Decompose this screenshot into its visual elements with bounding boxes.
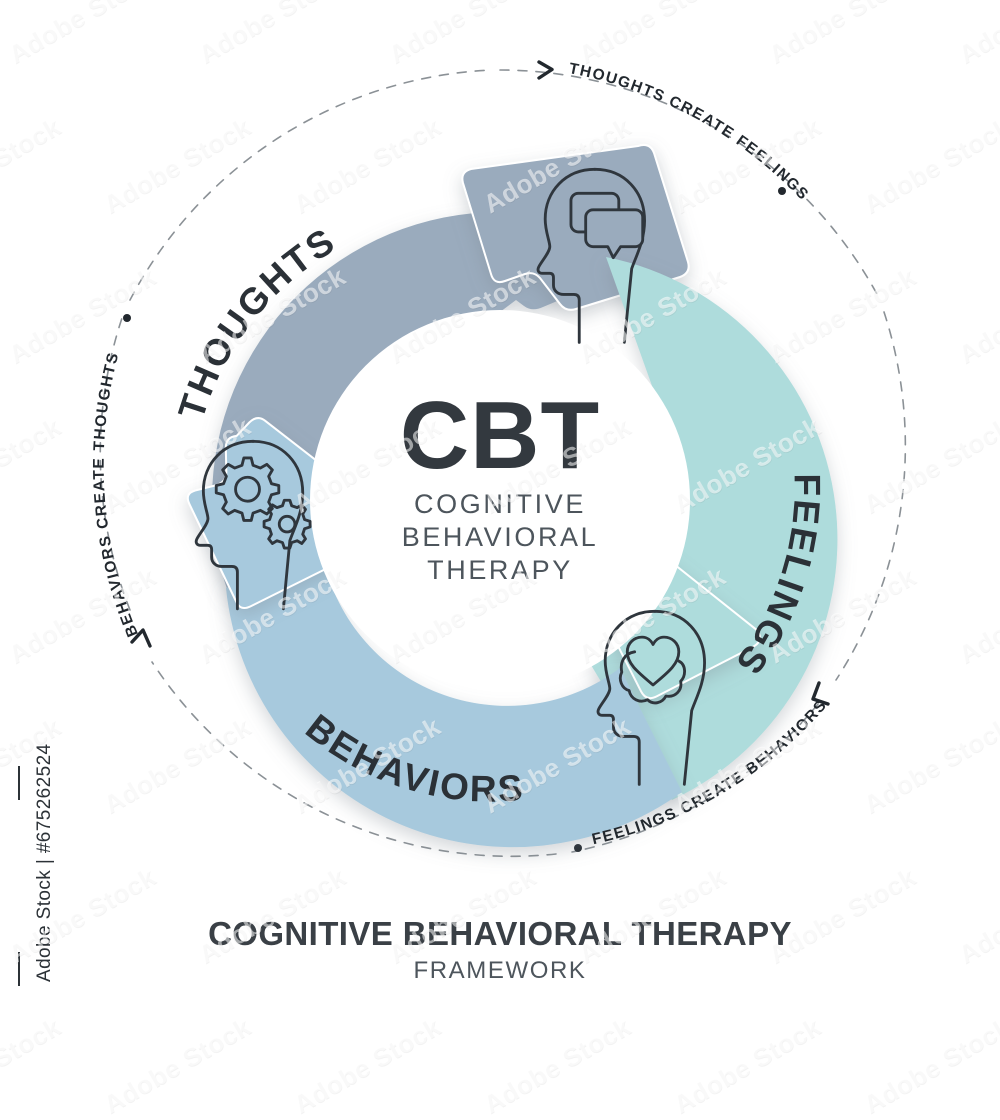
watermark-tick-top: [18, 766, 20, 800]
watermark-tick-bottom: [18, 952, 20, 986]
cbt-acronym: CBT: [400, 382, 600, 489]
watermark-tile: Adobe Stock: [288, 1011, 446, 1120]
dashed-dot-upper-left: [123, 314, 131, 322]
dashed-dot-bottom: [574, 844, 582, 852]
footer-title: COGNITIVE BEHAVIORAL THERAPY: [208, 915, 792, 952]
cbt-subtitle-line-1: COGNITIVE: [414, 489, 586, 519]
dashed-arc-right: [836, 312, 905, 680]
footer-title-block: COGNITIVE BEHAVIORAL THERAPY FRAMEWORK: [208, 915, 792, 984]
watermark-tile: Adobe Stock: [668, 1011, 826, 1120]
arc-label-behaviors-create-thoughts: BEHAVIORS CREATE THOUGHTS: [91, 350, 142, 639]
watermark-tile: Adobe Stock: [858, 1011, 1000, 1120]
watermark-tile: Adobe Stock: [0, 1011, 66, 1120]
watermark-tile: Adobe Stock: [98, 1011, 256, 1120]
cbt-subtitle-line-3: THERAPY: [427, 555, 573, 585]
watermark-tile: Adobe Stock: [478, 1011, 636, 1120]
center-lockup: CBT COGNITIVE BEHAVIORAL THERAPY: [400, 382, 600, 585]
footer-subtitle: FRAMEWORK: [413, 957, 586, 984]
cbt-subtitle-line-2: BEHAVIORAL: [402, 522, 599, 552]
cbt-cycle-diagram: THOUGHTS FEELINGS BEHAVIORS THOUGHTS CRE…: [0, 0, 1000, 1000]
dashed-arrowhead-top: [539, 62, 552, 78]
infographic-canvas: THOUGHTS FEELINGS BEHAVIORS THOUGHTS CRE…: [0, 0, 1000, 1000]
stock-id-watermark: Adobe Stock | #675262524: [34, 744, 56, 983]
